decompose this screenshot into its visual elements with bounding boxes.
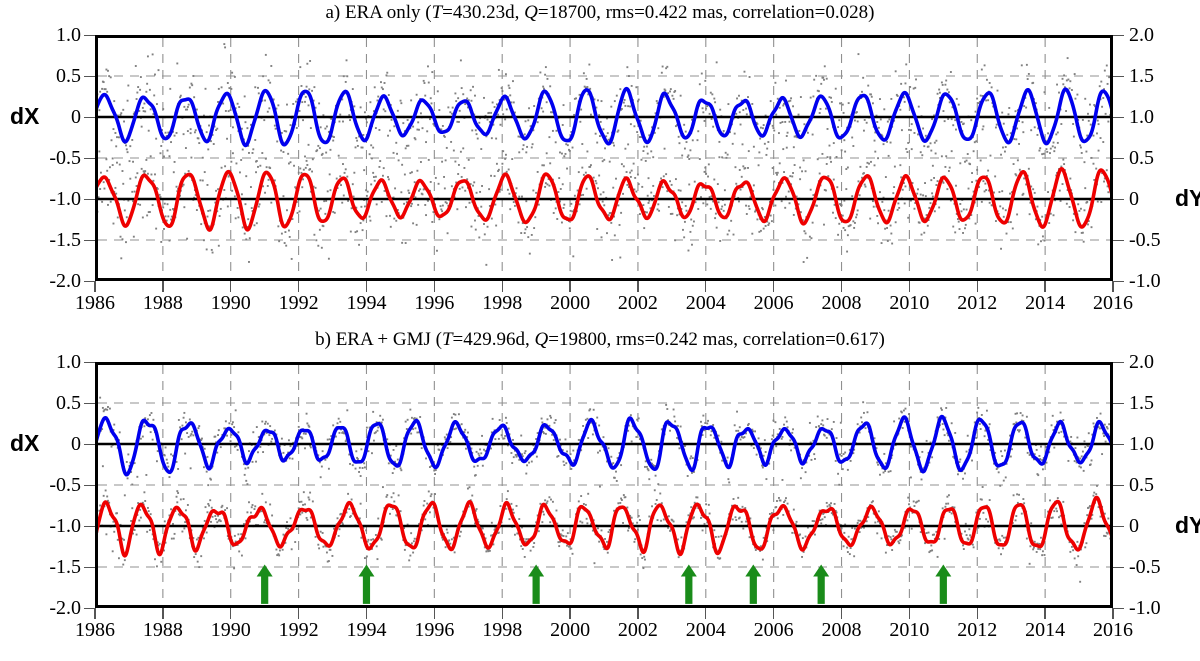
ytick-mark-left: [84, 362, 95, 363]
xtick-mark: [230, 608, 231, 619]
xtick-2012: 2012: [943, 620, 1011, 640]
ytick-left--2.0: -2.0: [3, 598, 81, 618]
ytick-right-0.5: 0.5: [1129, 475, 1154, 495]
ytick-mark-right: [1113, 567, 1124, 568]
panel-b-ylabel-right: dY: [1175, 514, 1200, 537]
annotation-arrow-event-2003: [681, 565, 697, 604]
ytick-right--1.0: -1.0: [1129, 598, 1161, 618]
ytick-mark-right: [1113, 444, 1124, 445]
panel-b: b) ERA + GMJ (T=429.96d, Q=19800, rms=0.…: [0, 0, 1200, 661]
xtick-mark: [569, 608, 570, 619]
ytick-right--0.5: -0.5: [1129, 557, 1161, 577]
xtick-mark: [94, 608, 95, 619]
ytick-mark-left: [84, 403, 95, 404]
xtick-1992: 1992: [265, 620, 333, 640]
xtick-2004: 2004: [672, 620, 740, 640]
xtick-1988: 1988: [129, 620, 197, 640]
ytick-mark-right: [1113, 608, 1124, 609]
ytick-left--1.5: -1.5: [3, 557, 81, 577]
ytick-mark-right: [1113, 403, 1124, 404]
xtick-mark: [637, 608, 638, 619]
ytick-mark-right: [1113, 485, 1124, 486]
gridlines: [98, 365, 1110, 605]
ytick-mark-left: [84, 526, 95, 527]
xtick-2000: 2000: [536, 620, 604, 640]
ytick-left--0.5: -0.5: [3, 475, 81, 495]
xtick-mark: [1112, 608, 1113, 619]
panel-b-title: b) ERA + GMJ (T=429.96d, Q=19800, rms=0.…: [0, 329, 1200, 351]
xtick-mark: [366, 608, 367, 619]
plot-canvas: [98, 365, 1110, 605]
xtick-1998: 1998: [468, 620, 536, 640]
xtick-2002: 2002: [604, 620, 672, 640]
xtick-mark: [298, 608, 299, 619]
curve-dx-model: [98, 417, 1110, 475]
panel-b-ylabel-left: dX: [10, 432, 39, 455]
annotation-arrow-event-2011: [935, 565, 951, 604]
xtick-mark: [1044, 608, 1045, 619]
annotation-arrow-event-1999: [528, 565, 544, 604]
xtick-1990: 1990: [197, 620, 265, 640]
xtick-mark: [841, 608, 842, 619]
ytick-left--1.0: -1.0: [3, 516, 81, 536]
ytick-right-2.0: 2.0: [1129, 352, 1154, 372]
annotation-arrow-event-1994: [358, 565, 374, 604]
ytick-mark-right: [1113, 526, 1124, 527]
annotation-arrow-event-1991: [257, 565, 273, 604]
annotation-arrow-event-2005: [745, 565, 761, 604]
xtick-mark: [434, 608, 435, 619]
ytick-left-0.5: 0.5: [3, 393, 81, 413]
xtick-1996: 1996: [400, 620, 468, 640]
ytick-left-1.0: 1.0: [3, 352, 81, 372]
xtick-mark: [909, 608, 910, 619]
xtick-1986: 1986: [61, 620, 129, 640]
ytick-mark-right: [1113, 362, 1124, 363]
ytick-right-1.5: 1.5: [1129, 393, 1154, 413]
xtick-2006: 2006: [740, 620, 808, 640]
ytick-right-0: 0: [1129, 516, 1139, 536]
xtick-mark: [162, 608, 163, 619]
xtick-mark: [977, 608, 978, 619]
xtick-2008: 2008: [808, 620, 876, 640]
figure-root: a) ERA only (T=430.23d, Q=18700, rms=0.4…: [0, 0, 1200, 661]
ytick-mark-left: [84, 567, 95, 568]
xtick-mark: [773, 608, 774, 619]
ytick-mark-left: [84, 485, 95, 486]
ytick-mark-left: [84, 444, 95, 445]
xtick-2014: 2014: [1011, 620, 1079, 640]
xtick-2016: 2016: [1079, 620, 1147, 640]
plot-clip: [98, 365, 1110, 605]
xtick-1994: 1994: [332, 620, 400, 640]
xtick-2010: 2010: [875, 620, 943, 640]
panel-b-plot-area: [95, 362, 1113, 608]
ytick-right-1.0: 1.0: [1129, 434, 1154, 454]
xtick-mark: [705, 608, 706, 619]
annotation-arrow-event-2007: [813, 565, 829, 604]
xtick-mark: [502, 608, 503, 619]
